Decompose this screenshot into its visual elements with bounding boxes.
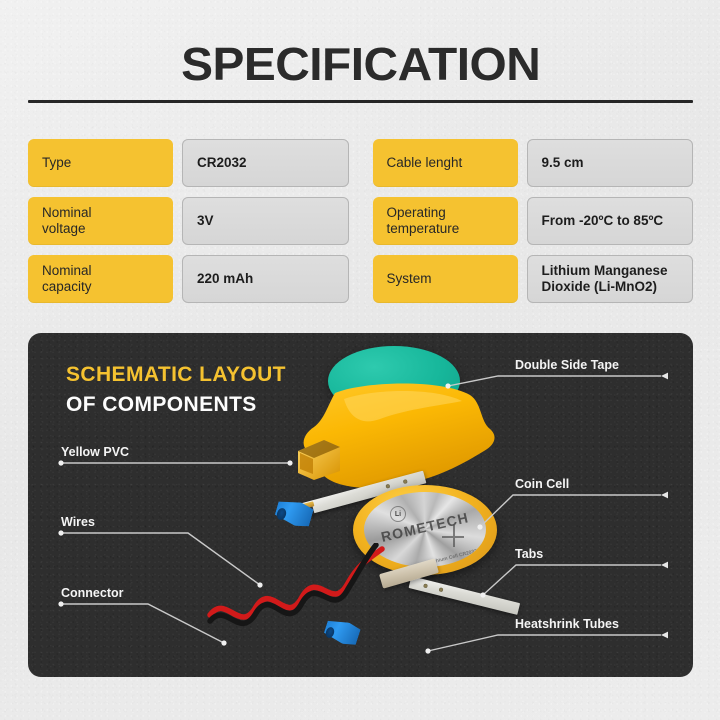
callout-double-side-tape: Double Side Tape [515, 358, 619, 372]
spec-label-operating-temperature-line2: temperature [387, 221, 460, 237]
spec-label-operating-temperature-line1: Operating [387, 205, 460, 221]
spec-label-type: Type [28, 139, 173, 187]
spec-value-operating-temperature: From -20ºC to 85ºC [527, 197, 694, 245]
spec-row-nominal-voltage: Nominal voltage 3V [28, 197, 349, 245]
spec-label-system-text: System [387, 271, 432, 287]
spec-label-nominal-voltage: Nominal voltage [28, 197, 173, 245]
spec-label-cable-length: Cable lenght [373, 139, 518, 187]
spec-label-operating-temperature: Operating temperature [373, 197, 518, 245]
callout-wires: Wires [61, 515, 95, 529]
spec-row-type: Type CR2032 [28, 139, 349, 187]
callout-connector: Connector [61, 586, 124, 600]
spec-value-nominal-capacity: 220 mAh [182, 255, 349, 303]
polarity-plus-icon [442, 525, 464, 547]
schematic-layout-panel: SCHEMATIC LAYOUT OF COMPONENTS [28, 333, 693, 677]
schematic-heading: SCHEMATIC LAYOUT OF COMPONENTS [66, 363, 286, 417]
spec-value-nominal-capacity-text: 220 mAh [197, 271, 253, 287]
spec-value-type: CR2032 [182, 139, 349, 187]
specification-table: Type CR2032 Cable lenght 9.5 cm Nominal … [28, 139, 693, 303]
spec-value-nominal-voltage: 3V [182, 197, 349, 245]
spec-label-nominal-voltage-line2: voltage [42, 221, 92, 237]
schematic-heading-line2: OF COMPONENTS [66, 393, 286, 417]
page-header: SPECIFICATION [28, 26, 693, 102]
tab-hole [439, 587, 444, 592]
header-divider [28, 100, 693, 103]
spec-row-operating-temperature: Operating temperature From -20ºC to 85ºC [373, 197, 694, 245]
spec-row-nominal-capacity: Nominal capacity 220 mAh [28, 255, 349, 303]
spec-value-system: Lithium Manganese Dioxide (Li-MnO2) [527, 255, 694, 303]
spec-value-system-line1: Lithium Manganese [542, 263, 668, 279]
spec-label-nominal-voltage-line1: Nominal [42, 205, 92, 221]
spec-value-type-text: CR2032 [197, 155, 247, 171]
spec-value-system-line2: Dioxide (Li-MnO2) [542, 279, 668, 295]
spec-value-cable-length-text: 9.5 cm [542, 155, 584, 171]
twisted-wire-pair [200, 543, 400, 633]
spec-row-cable-length: Cable lenght 9.5 cm [373, 139, 694, 187]
spec-label-cable-length-text: Cable lenght [387, 155, 463, 171]
spec-label-type-text: Type [42, 155, 71, 171]
page-background: SPECIFICATION Type CR2032 Cable lenght 9… [0, 0, 720, 720]
spec-label-system: System [373, 255, 518, 303]
callout-heatshrink-tubes: Heatshrink Tubes [515, 617, 619, 631]
schematic-heading-line1: SCHEMATIC LAYOUT [66, 363, 286, 387]
tab-hole [403, 479, 408, 484]
callout-yellow-pvc: Yellow PVC [61, 445, 129, 459]
spec-label-nominal-capacity-line2: capacity [42, 279, 92, 295]
spec-label-nominal-capacity: Nominal capacity [28, 255, 173, 303]
spec-value-cable-length: 9.5 cm [527, 139, 694, 187]
page-title: SPECIFICATION [181, 37, 540, 91]
spec-value-operating-temperature-text: From -20ºC to 85ºC [542, 213, 664, 229]
lithium-mark-icon: Li [390, 506, 406, 522]
spec-value-nominal-voltage-text: 3V [197, 213, 214, 229]
spec-row-system: System Lithium Manganese Dioxide (Li-MnO… [373, 255, 694, 303]
callout-tabs: Tabs [515, 547, 543, 561]
callout-coin-cell: Coin Cell [515, 477, 569, 491]
spec-label-nominal-capacity-line1: Nominal [42, 263, 92, 279]
